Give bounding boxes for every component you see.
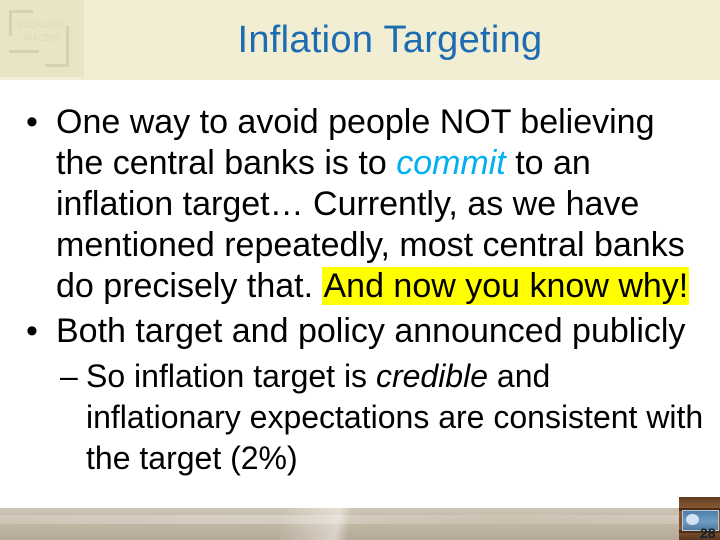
course-logo: ECON1050: MACRO xyxy=(0,0,84,77)
bullet-marker-icon: • xyxy=(26,102,38,143)
page-title: Inflation Targeting xyxy=(90,18,690,62)
bullet-1-highlighted-text: And now you know why! xyxy=(322,267,689,305)
slide-header: Inflation Targeting xyxy=(0,0,720,80)
footer-photo-strip xyxy=(0,508,720,540)
sub-bullet-item-1: –So inflation target is credible and inf… xyxy=(20,356,710,479)
bullet-item-1: •One way to avoid people NOT believing t… xyxy=(20,102,710,307)
page-number-thumbnail: 28 xyxy=(679,497,720,540)
slide-canvas: Inflation Targeting ECON1050: MACRO •One… xyxy=(0,0,720,540)
footer-seam xyxy=(280,508,400,540)
slide-body: •One way to avoid people NOT believing t… xyxy=(0,80,720,508)
sub-bullet-1-emphasis-credible: credible xyxy=(376,358,488,394)
thumbnail-screen-icon: 28 xyxy=(682,510,719,531)
course-logo-line2: MACRO xyxy=(0,32,84,45)
course-logo-line1: ECON1050: xyxy=(0,19,84,32)
page-number: 28 xyxy=(700,524,720,540)
bullet-item-2: •Both target and policy announced public… xyxy=(20,311,710,352)
bullet-list: •One way to avoid people NOT believing t… xyxy=(20,102,710,479)
course-logo-text: ECON1050: MACRO xyxy=(0,19,84,45)
sub-bullet-dash-icon: – xyxy=(60,356,78,397)
thumbnail-oval-icon xyxy=(686,514,699,525)
bullet-1-emphasis-commit: commit xyxy=(396,144,506,182)
sub-bullet-1-text-part-1: So inflation target is xyxy=(86,358,376,394)
bullet-2-text: Both target and policy announced publicl… xyxy=(56,312,685,350)
bullet-marker-icon: • xyxy=(26,311,38,352)
